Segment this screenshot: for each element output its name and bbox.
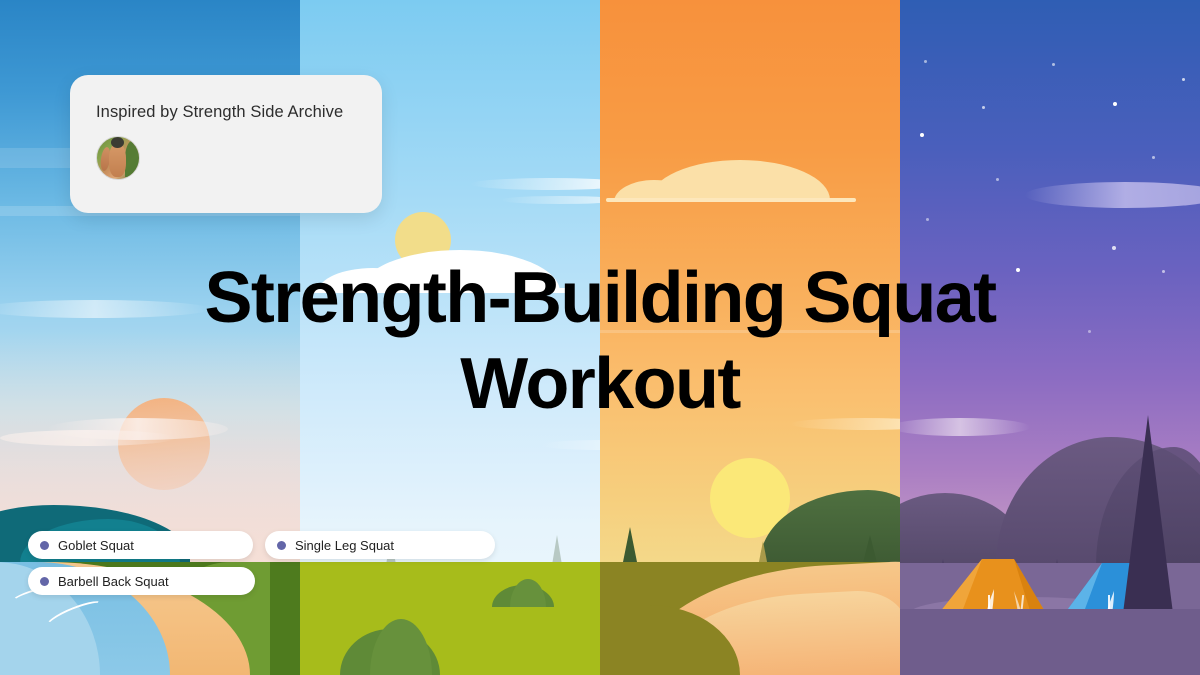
star-icon xyxy=(926,218,929,221)
star-icon xyxy=(924,60,927,63)
cloud-shape xyxy=(606,198,856,202)
star-icon xyxy=(1052,63,1055,66)
inspiration-credit-card[interactable]: Inspired by Strength Side Archive xyxy=(70,75,382,213)
exercise-chip-label: Goblet Squat xyxy=(58,538,134,553)
bullet-dot-icon xyxy=(40,577,49,586)
avatar[interactable] xyxy=(96,136,140,180)
credit-label: Inspired by Strength Side Archive xyxy=(96,103,356,122)
cloud-wisp xyxy=(1025,182,1200,208)
cloud-wisp xyxy=(540,440,600,450)
avatar-torso xyxy=(109,143,126,177)
star-icon xyxy=(1112,246,1116,250)
star-icon xyxy=(1113,102,1117,106)
bullet-dot-icon xyxy=(277,541,286,550)
page-title: Strength-Building Squat Workout xyxy=(140,255,1060,427)
cloud-wisp xyxy=(470,178,600,190)
exercise-chip-label: Single Leg Squat xyxy=(295,538,394,553)
exercise-chip-barbell-back-squat[interactable]: Barbell Back Squat xyxy=(28,567,255,595)
ground-shape xyxy=(900,609,1200,675)
exercise-chip-single-leg-squat[interactable]: Single Leg Squat xyxy=(265,531,495,559)
page-title-line-1: Strength-Building Squat xyxy=(140,255,1060,341)
star-icon xyxy=(996,178,999,181)
exercise-chip-label: Barbell Back Squat xyxy=(58,574,169,589)
bullet-dot-icon xyxy=(40,541,49,550)
cloud-wisp xyxy=(500,196,600,204)
star-icon xyxy=(1162,270,1165,273)
star-icon xyxy=(920,133,924,137)
star-icon xyxy=(1182,78,1185,81)
conifer-tree xyxy=(552,535,562,565)
avatar-foliage xyxy=(125,141,139,177)
avatar-head xyxy=(111,137,124,148)
exercise-chip-goblet-squat[interactable]: Goblet Squat xyxy=(28,531,253,559)
star-icon xyxy=(982,106,985,109)
star-icon xyxy=(1152,156,1155,159)
star-icon xyxy=(1088,330,1091,333)
conifer-tree xyxy=(622,527,638,567)
page-title-line-2: Workout xyxy=(140,341,1060,427)
poster-canvas: Inspired by Strength Side Archive Streng… xyxy=(0,0,1200,675)
